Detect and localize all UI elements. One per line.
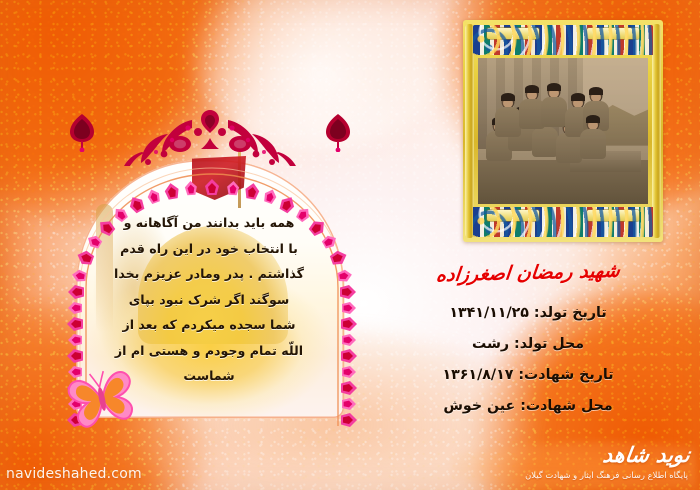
frame-plaque	[587, 210, 639, 221]
frame-plaque	[587, 28, 639, 39]
frame-column-right	[652, 24, 661, 238]
info-label: محل شهادت:	[520, 398, 612, 414]
info-value: ۱۳۶۱/۸/۱۷	[442, 360, 513, 391]
will-text-block: همه باید بدانند من آگاهانه و با انتخاب خ…	[78, 210, 340, 389]
info-row-birth-place: محل تولد: رشت	[378, 329, 678, 360]
martyr-info-block: شهید رمضان اصغرزاده تاریخ تولد: ۱۳۴۱/۱۱/…	[378, 258, 678, 422]
frame-plaque	[487, 210, 539, 221]
info-value: رشت	[472, 336, 509, 352]
will-line: گذاشتم . پدر ومادر عزیزم بخدا	[78, 261, 340, 287]
will-line: با انتخاب خود در این راه قدم	[78, 236, 340, 262]
info-label: تاریخ شهادت:	[518, 367, 613, 383]
frame-tile-band-top	[473, 25, 653, 55]
photo-frame[interactable]	[463, 20, 663, 242]
memorial-poster: همه باید بدانند من آگاهانه و با انتخاب خ…	[0, 0, 700, 490]
brand-logo[interactable]: نوید شاهد پایگاه اطلاع رسانی فرهنگ ایثار…	[458, 442, 690, 486]
arch-side-bud-left	[68, 112, 96, 152]
info-row-birth-date: تاریخ تولد: ۱۳۴۱/۱۱/۲۵	[378, 298, 678, 329]
will-line: شما سجده میکردم که بعد از	[78, 312, 340, 338]
photo-color-tone	[478, 58, 648, 204]
info-value: عین خوش	[443, 398, 515, 414]
info-row-martyrdom-place: محل شهادت: عین خوش	[378, 391, 678, 422]
info-label: محل تولد:	[514, 336, 584, 352]
brand-name: نوید شاهد	[601, 444, 691, 466]
info-value: ۱۳۴۱/۱۱/۲۵	[449, 298, 529, 329]
frame-plaque	[487, 28, 539, 39]
will-line: سوگند اگر شرک نبود بپای	[78, 287, 340, 313]
butterfly-icon	[63, 366, 141, 432]
frame-column-left	[465, 24, 474, 238]
martyr-name: شهید رمضان اصغرزاده	[376, 254, 680, 291]
will-line: اللّه تمام وجودم و هستی ام از	[78, 338, 340, 364]
frame-tile-band-bottom	[473, 207, 653, 237]
arch-side-bud-right	[324, 112, 352, 152]
site-watermark: navideshahed.com	[6, 466, 142, 482]
brand-subtitle: پایگاه اطلاع رسانی فرهنگ ایثار و شهادت گ…	[460, 470, 688, 481]
martyr-group-photo[interactable]	[478, 58, 648, 204]
will-line: همه باید بدانند من آگاهانه و	[78, 210, 340, 236]
info-label: تاریخ تولد:	[534, 305, 607, 321]
info-row-martyrdom-date: تاریخ شهادت: ۱۳۶۱/۸/۱۷	[378, 360, 678, 391]
arch-crown-ornament	[102, 108, 318, 168]
